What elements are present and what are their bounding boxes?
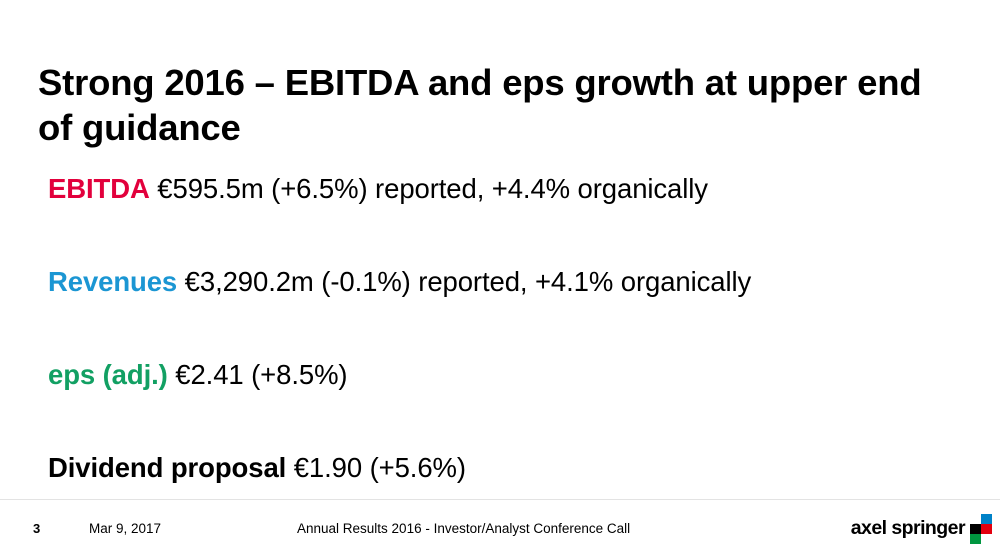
key-figure-ebitda: EBITDA €595.5m (+6.5%) reported, +4.4% o… (48, 172, 978, 265)
logo-square-red (981, 524, 992, 534)
key-figure-value-ebitda: €595.5m (+6.5%) reported, +4.4% organica… (150, 173, 708, 204)
key-figure-value-dividend: €1.90 (+5.6%) (286, 452, 466, 483)
key-figure-eps: eps (adj.) €2.41 (+8.5%) (48, 358, 978, 451)
page-title: Strong 2016 – EBITDA and eps growth at u… (38, 60, 938, 150)
logo-square-empty-bottomright (981, 534, 992, 544)
footer-date: Mar 9, 2017 (89, 521, 161, 536)
key-figure-revenues: Revenues €3,290.2m (-0.1%) reported, +4.… (48, 265, 978, 358)
key-figures-list: EBITDA €595.5m (+6.5%) reported, +4.4% o… (48, 172, 978, 544)
footer-page-number: 3 (33, 521, 40, 536)
footer-event-title: Annual Results 2016 - Investor/Analyst C… (297, 521, 630, 536)
key-figure-value-revenues: €3,290.2m (-0.1%) reported, +4.1% organi… (177, 266, 751, 297)
axel-springer-squares-icon (970, 514, 992, 544)
key-figure-label-dividend: Dividend proposal (48, 452, 286, 483)
logo-square-black (970, 524, 981, 534)
key-figure-value-eps: €2.41 (+8.5%) (168, 359, 348, 390)
logo-wordmark: axel springer (851, 519, 965, 540)
key-figure-label-revenues: Revenues (48, 266, 177, 297)
key-figure-label-eps: eps (adj.) (48, 359, 168, 390)
slide-canvas: Strong 2016 – EBITDA and eps growth at u… (0, 0, 1000, 559)
axel-springer-logo: axel springer (851, 514, 992, 544)
footer: 3 Mar 9, 2017 Annual Results 2016 - Inve… (0, 500, 1000, 559)
key-figure-label-ebitda: EBITDA (48, 173, 150, 204)
logo-square-green (970, 534, 981, 544)
logo-square-blue (981, 514, 992, 524)
logo-square-empty-topleft (970, 514, 981, 524)
